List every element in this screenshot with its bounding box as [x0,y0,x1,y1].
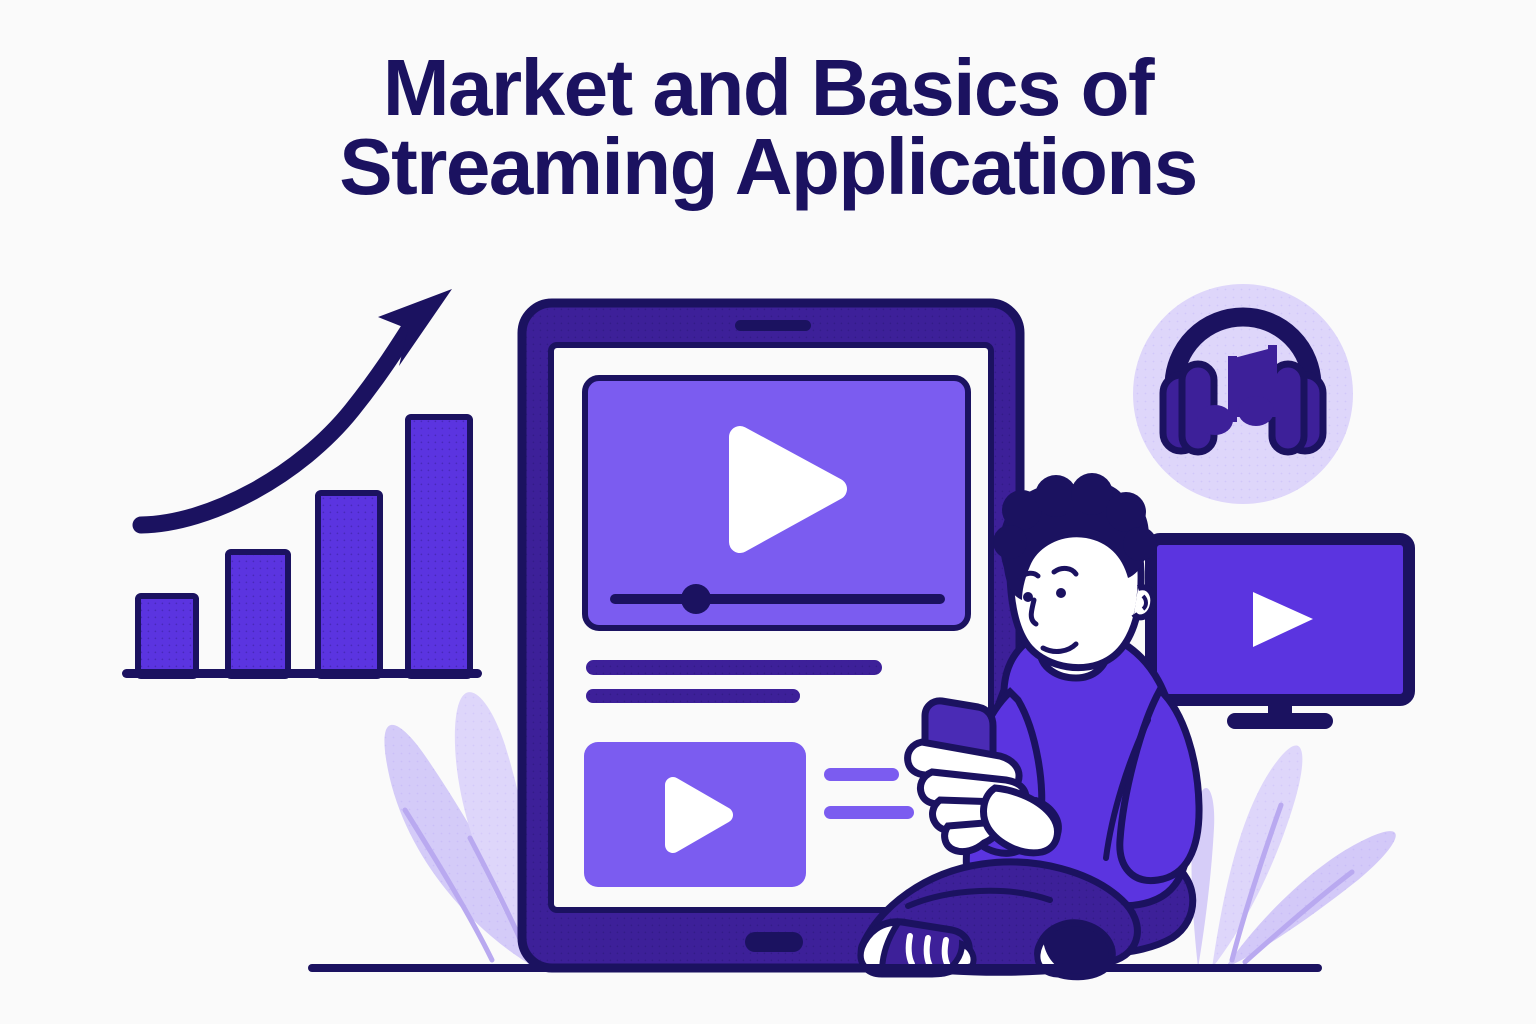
eye-right [1056,588,1066,598]
tablet-device [522,303,1020,968]
video-player-primary[interactable] [585,378,968,628]
illustration-canvas: Market and Basics of Streaming Applicati… [0,0,1536,1024]
tv-device [1151,539,1409,729]
streaming-illustration [0,0,1536,1024]
chart-baseline [122,669,482,678]
tv-base [1227,713,1333,729]
headphones-music-badge [1133,284,1353,504]
scrubber-knob[interactable] [681,584,711,614]
tablet-speaker-slot [735,320,811,331]
tablet-home-button[interactable] [745,932,803,952]
video-thumbnail-secondary[interactable] [584,742,806,887]
ground-line [308,964,1322,972]
progress-bar[interactable] [610,594,945,604]
